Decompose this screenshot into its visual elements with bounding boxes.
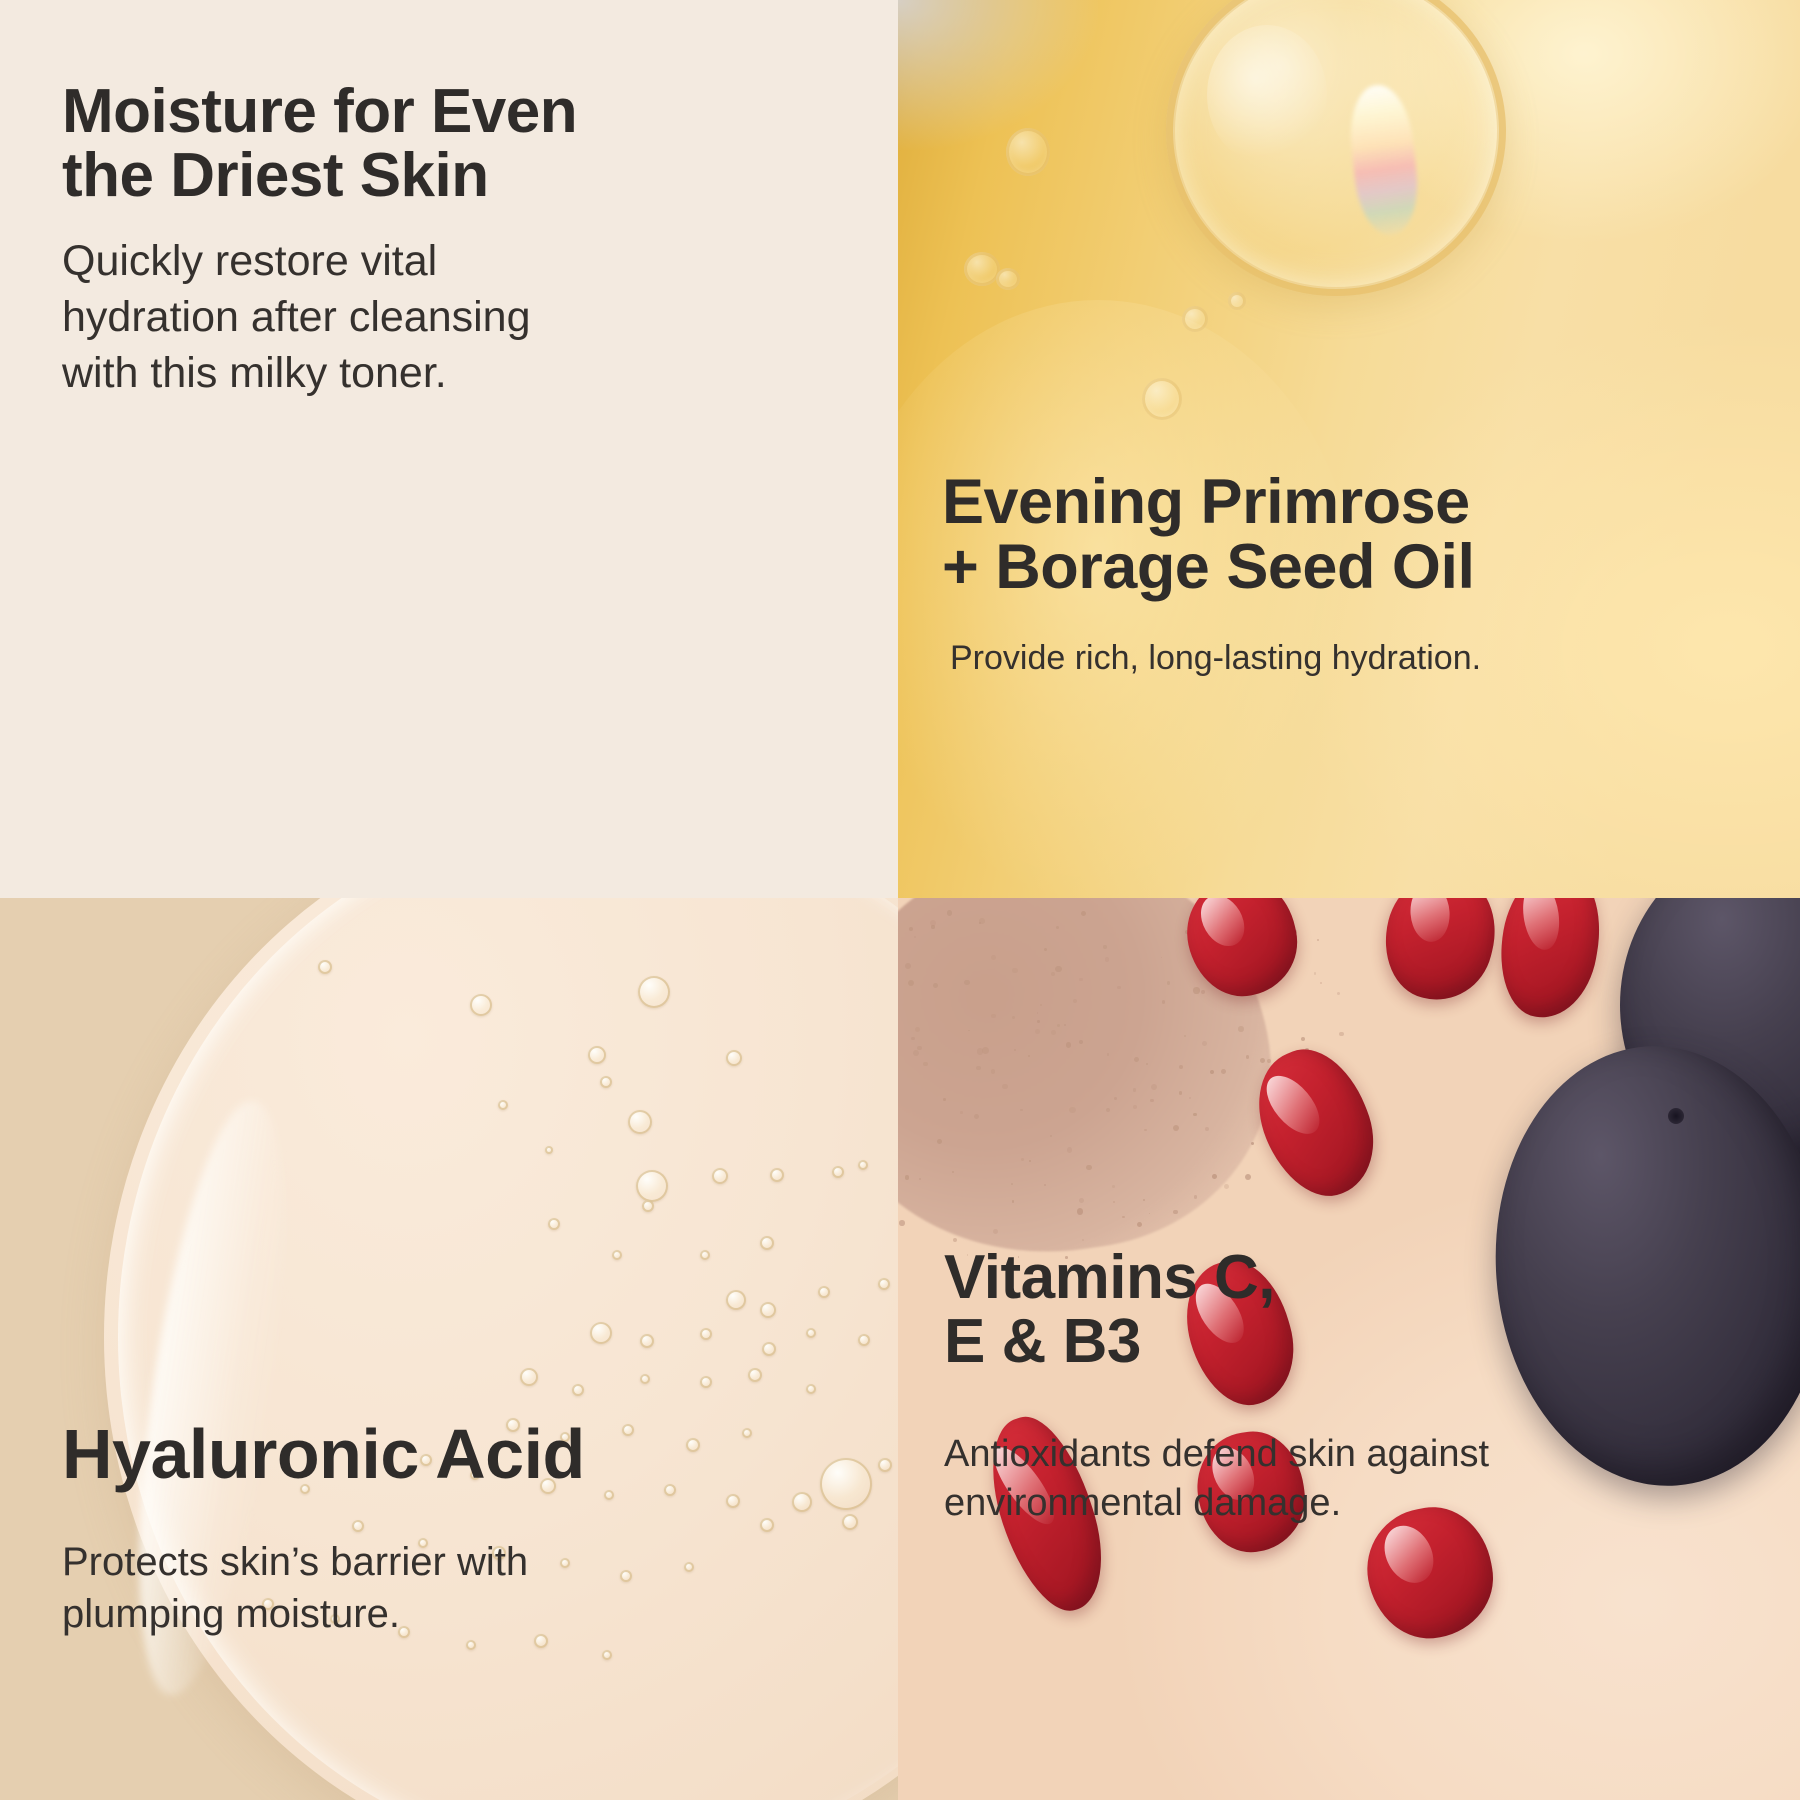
powder-speck [1201, 990, 1205, 994]
powder-speck [1267, 1059, 1271, 1063]
gel-bubble [700, 1328, 712, 1340]
gel-bubble [700, 1250, 710, 1260]
oil-droplet [996, 268, 1020, 290]
gel-bubble [806, 1328, 816, 1338]
gel-bubble [770, 1168, 784, 1182]
oil-droplet [1228, 292, 1246, 310]
powder-speck [1133, 1105, 1137, 1109]
panel-intro: Moisture for Even the Driest Skin Quickl… [0, 0, 898, 898]
gel-bubble [760, 1236, 774, 1250]
powder-speck [968, 1030, 970, 1032]
hyaluronic-headline: Hyaluronic Acid [62, 1418, 842, 1490]
oil-corner-highlight [898, 0, 1098, 150]
hyaluronic-subtitle: Protects skin’s barrier with plumping mo… [62, 1536, 842, 1640]
powder-speck [977, 1048, 983, 1054]
gel-bubble [638, 976, 670, 1008]
powder-speck [964, 980, 969, 985]
powder-speck [1314, 972, 1316, 974]
powder-speck [1251, 1142, 1254, 1145]
powder-speck [1077, 1208, 1083, 1214]
powder-speck [1150, 1099, 1154, 1103]
powder-speck [1260, 1058, 1265, 1063]
powder-speck [1103, 945, 1106, 948]
powder-speck [960, 1111, 963, 1114]
intro-subtitle: Quickly restore vital hydration after cl… [62, 234, 752, 402]
panel-hyaluronic-acid: Hyaluronic Acid Protects skin’s barrier … [0, 898, 898, 1800]
powder-speck [1037, 1020, 1040, 1023]
oil-droplet [1182, 306, 1208, 332]
powder-speck [976, 1066, 980, 1070]
powder-speck [952, 1171, 954, 1173]
powder-speck [1050, 1135, 1052, 1137]
powder-speck [979, 918, 985, 924]
powder-speck [899, 1220, 904, 1225]
powder-speck [1173, 1210, 1178, 1215]
oil-bubble-large [1166, 0, 1506, 296]
powder-speck [993, 1229, 998, 1234]
powder-speck [1189, 1097, 1191, 1099]
powder-speck [1044, 948, 1047, 951]
gel-bubble [636, 1170, 668, 1202]
pomegranate-seed [1490, 898, 1611, 1025]
powder-speck [1337, 992, 1340, 995]
gel-bubble [726, 1050, 742, 1066]
powder-speck [911, 1037, 915, 1041]
gel-bubble [498, 1100, 508, 1110]
powder-speck [1066, 1042, 1072, 1048]
gel-bubble [762, 1342, 776, 1356]
gel-bubble [470, 994, 492, 1016]
gel-bubble [858, 1160, 868, 1170]
hyaluronic-text-block: Hyaluronic Acid Protects skin’s barrier … [62, 1418, 842, 1640]
gel-bubble [832, 1166, 844, 1178]
powder-speck [1162, 1000, 1166, 1004]
intro-text-block: Moisture for Even the Driest Skin Quickl… [62, 80, 752, 401]
powder-speck [1057, 1024, 1060, 1027]
powder-speck [1339, 1032, 1344, 1037]
powder-speck [933, 983, 938, 988]
powder-speck [1134, 1057, 1139, 1062]
powder-speck [1107, 1053, 1110, 1056]
powder-speck [991, 1069, 995, 1073]
powder-speck [1067, 1147, 1073, 1153]
powder-speck [1245, 1174, 1251, 1180]
powder-speck [1079, 1198, 1084, 1203]
gel-bubble [602, 1650, 612, 1660]
gel-bubble [466, 1640, 476, 1650]
gel-bubble [548, 1218, 560, 1230]
gel-bubble [726, 1290, 746, 1310]
gel-bubble [748, 1368, 762, 1382]
powder-speck [1320, 982, 1323, 985]
powder-speck [923, 1062, 928, 1067]
oil-droplet [1006, 128, 1050, 176]
powder-speck [1167, 981, 1170, 984]
gel-bubble [590, 1322, 612, 1344]
gel-bubble [600, 1076, 612, 1088]
powder-speck [930, 920, 936, 926]
vitamins-subtitle: Antioxidants defend skin against environ… [944, 1430, 1734, 1529]
oil-text-block: Evening Primrose + Borage Seed Oil Provi… [942, 470, 1782, 680]
powder-speck [1044, 1184, 1046, 1186]
gel-bubble [818, 1286, 830, 1298]
pomegranate-seed [1372, 898, 1507, 1011]
powder-speck [1205, 1127, 1209, 1131]
powder-speck [1210, 1070, 1214, 1074]
powder-speck [909, 927, 913, 931]
gel-bubble [318, 960, 332, 974]
oil-headline: Evening Primrose + Borage Seed Oil [942, 470, 1782, 600]
gel-bubble [640, 1374, 650, 1384]
powder-speck [1224, 1184, 1229, 1189]
oil-droplet [1142, 378, 1182, 420]
panel-vitamins: Vitamins C, E & B3 Antioxidants defend s… [898, 898, 1800, 1800]
powder-speck [1040, 1004, 1042, 1006]
powder-speck [1086, 1165, 1091, 1170]
gel-bubble [700, 1376, 712, 1388]
gel-bubble [640, 1334, 654, 1348]
powder-speck [1035, 1029, 1040, 1034]
oil-droplet [964, 252, 1000, 286]
gel-bubble [642, 1200, 654, 1212]
powder-speck [1012, 968, 1018, 974]
gel-bubble [712, 1168, 728, 1184]
powder-speck [931, 925, 934, 928]
panel-evening-primrose-oil: Evening Primrose + Borage Seed Oil Provi… [898, 0, 1800, 898]
powder-speck [1301, 1037, 1305, 1041]
powder-speck [991, 1014, 995, 1018]
oil-bubble-soft-highlight [1207, 25, 1327, 165]
oil-bubble-rim [1166, 0, 1506, 296]
gel-bubble [520, 1368, 538, 1386]
powder-speck [1193, 987, 1199, 993]
oil-subtitle: Provide rich, long-lasting hydration. [950, 636, 1782, 680]
gel-bubble [760, 1302, 776, 1318]
intro-headline: Moisture for Even the Driest Skin [62, 80, 752, 208]
powder-speck [1028, 1055, 1030, 1057]
gel-bubble [842, 1514, 858, 1530]
powder-speck [1051, 972, 1055, 976]
gel-bubble [572, 1384, 584, 1396]
oil-photo [898, 0, 1800, 898]
gel-bubble [878, 1458, 892, 1472]
powder-speck [1012, 1200, 1014, 1202]
powder-speck [1317, 939, 1319, 941]
gel-bubble [806, 1384, 816, 1394]
gel-bubble [878, 1278, 890, 1290]
plum-stem-dimple [1668, 1108, 1684, 1124]
gel-bubble [628, 1110, 652, 1134]
gel-bubble [612, 1250, 622, 1260]
powder-speck [991, 955, 996, 960]
gel-bubble [588, 1046, 606, 1064]
powder-speck [1020, 1109, 1022, 1111]
powder-speck [1014, 1049, 1016, 1051]
gel-bubble [858, 1334, 870, 1346]
powder-speck [1002, 1084, 1007, 1089]
powder-speck [947, 910, 953, 916]
powder-speck [1037, 1012, 1039, 1014]
powder-speck [1202, 1041, 1207, 1046]
powder-speck [1194, 1195, 1197, 1198]
product-benefits-infographic: Moisture for Even the Driest Skin Quickl… [0, 0, 1800, 1800]
vitamins-headline: Vitamins C, E & B3 [944, 1246, 1734, 1374]
gel-bubble [545, 1146, 553, 1154]
powder-speck [1238, 1026, 1243, 1031]
powder-speck [1105, 957, 1109, 961]
powder-speck [953, 1238, 958, 1243]
powder-speck [1151, 1084, 1157, 1090]
powder-speck [1144, 1129, 1146, 1131]
vitamins-text-block: Vitamins C, E & B3 Antioxidants defend s… [944, 1246, 1734, 1529]
